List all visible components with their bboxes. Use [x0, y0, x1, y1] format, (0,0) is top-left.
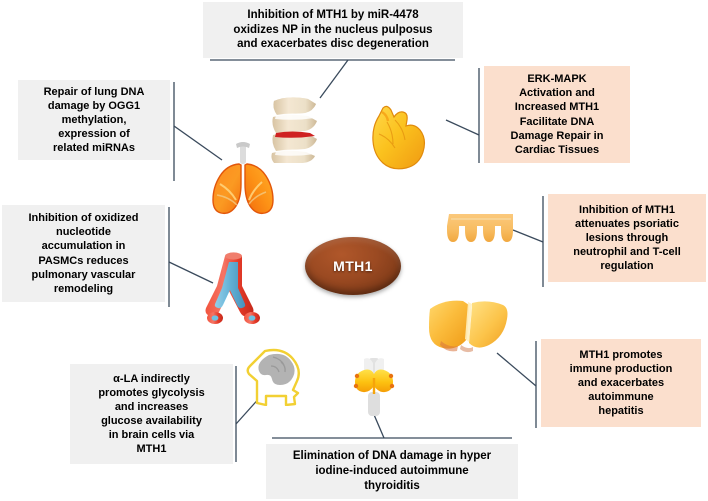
box-disc-degeneration-text: Inhibition of MTH1 by miR-4478 oxidizes … [233, 8, 432, 52]
box-disc-degeneration[interactable]: Inhibition of MTH1 by miR-4478 oxidizes … [203, 2, 463, 58]
box-autoimmune-hepatitis[interactable]: MTH1 promotes immune production and exac… [541, 339, 701, 427]
skin-layer-icon [447, 210, 517, 258]
box-lung-dna-repair-text: Repair of lung DNA damage by OGG1 methyl… [44, 85, 145, 155]
box-pulmonary-vascular-remodeling[interactable]: Inhibition of oxidized nucleotide accumu… [2, 205, 165, 302]
connector-liver [497, 353, 536, 386]
box-psoriatic-lesions[interactable]: Inhibition of MTH1 attenuates psoriatic … [548, 194, 706, 282]
box-brain-glycolysis-text: α-LA indirectly promotes glycolysis and … [98, 372, 204, 456]
box-pulmonary-vascular-remodeling-text: Inhibition of oxidized nucleotide accumu… [29, 211, 139, 295]
heart-icon [365, 102, 429, 170]
box-brain-glycolysis[interactable]: α-LA indirectly promotes glycolysis and … [70, 364, 233, 464]
box-lung-dna-repair[interactable]: Repair of lung DNA damage by OGG1 methyl… [18, 80, 170, 160]
box-psoriatic-lesions-text: Inhibition of MTH1 attenuates psoriatic … [573, 203, 681, 273]
thyroid-gland-icon [350, 356, 398, 418]
liver-icon [427, 295, 509, 357]
box-autoimmune-thyroiditis[interactable]: Elimination of DNA damage in hyper iodin… [266, 444, 518, 499]
figure-canvas: MTH1 [0, 0, 708, 501]
lungs-icon [206, 140, 280, 218]
connector-skin [513, 230, 543, 242]
box-autoimmune-hepatitis-text: MTH1 promotes immune production and exac… [570, 348, 673, 418]
box-cardiac-dna-repair[interactable]: ERK-MAPK Activation and Increased MTH1 F… [484, 66, 630, 163]
blood-vessel-icon [205, 250, 263, 326]
mth1-center-node: MTH1 [305, 237, 401, 295]
brain-head-icon [243, 348, 305, 406]
mth1-center-label: MTH1 [333, 258, 373, 274]
box-cardiac-dna-repair-text: ERK-MAPK Activation and Increased MTH1 F… [511, 72, 604, 156]
box-autoimmune-thyroiditis-text: Elimination of DNA damage in hyper iodin… [293, 449, 491, 493]
connector-heart [446, 120, 479, 135]
